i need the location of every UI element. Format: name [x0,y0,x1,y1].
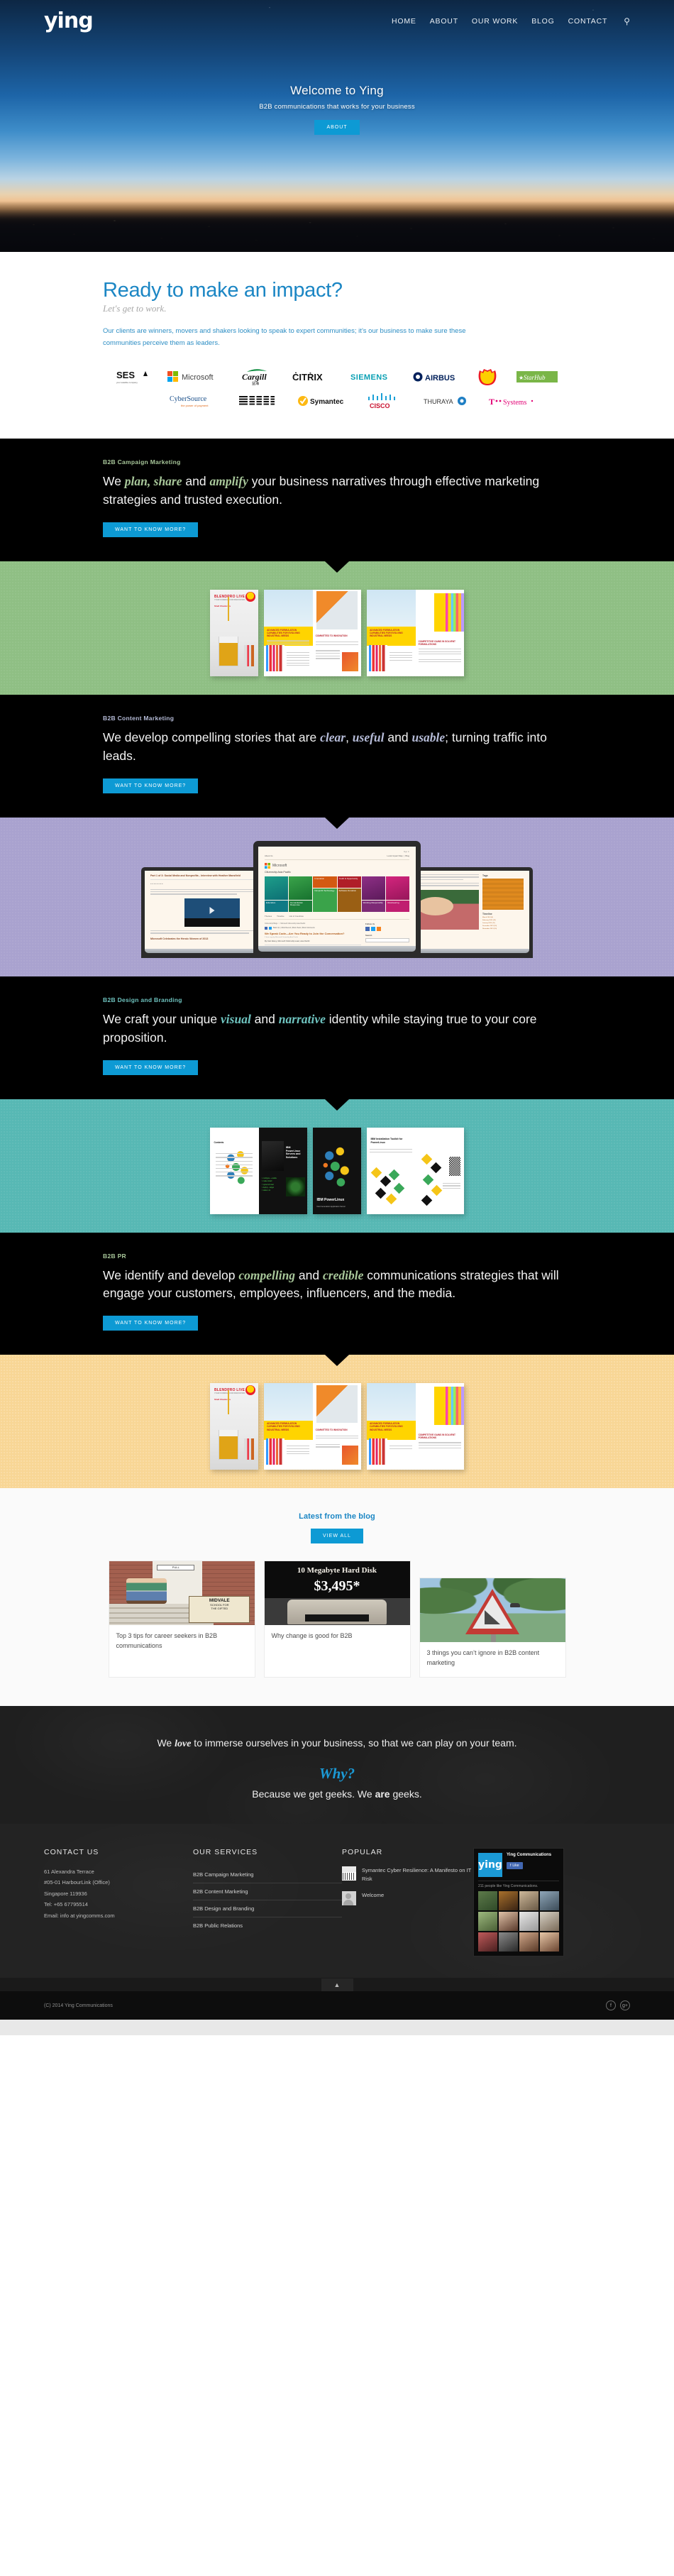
back-to-top-bar: ▲ [0,1978,674,1991]
service-block-design-branding: B2B Design and Branding We craft your un… [0,976,674,1099]
spread-headline-2: COMMITTED TO INNOVATION [316,634,358,637]
geeks-why-heading: Why? [0,1765,674,1783]
brochure-subtitle: Next Generation Application Server [316,1206,346,1208]
ad-headline: 10 Megabyte Hard Disk [265,1566,410,1575]
brochure-spread: ADVANCED FORMULATION CAPABILITIES FOR EV… [367,590,464,676]
address-line: Singapore 119936 [44,1888,193,1899]
service-headline: We identify and develop compelling and c… [103,1267,571,1304]
laptop-timeline-label: Timeline [482,913,524,915]
logo-airbus: AIRBUS [413,368,458,386]
headline-emphasis: visual [221,1012,251,1026]
laptop-center: Sign In About UsLocal Impact Map | Blog … [253,841,421,958]
tile-label: Education [266,902,275,904]
tile-label: Nonprofit Technology [314,890,334,892]
oil-pour-graphic [228,1390,229,1414]
page-root: ying HOME ABOUT OUR WORK BLOG CONTACT ⚲ … [0,0,674,2035]
brochure-page-right: IBM PowerLinux Servers and Solutions > c… [259,1128,308,1214]
logo-siemens: SIEMENS [350,368,394,386]
headline-emphasis: usable [411,730,445,744]
brochure-page-right: COMPETITIVE GAINS IN SOLVENT FORMULATION… [416,1383,465,1470]
hero-content: Welcome to Ying B2B communications that … [0,84,674,135]
email-line: Email: info at yingcomms.com [44,1910,193,1921]
facebook-icon[interactable]: f [606,2000,616,2010]
logo-ibm [239,392,276,410]
blog-thumbnail-midvale-cartoon: PULL MIDVALESCHOOL FORTHE GIFTED [109,1561,255,1625]
svg-text:Microsoft: Microsoft [182,373,214,382]
popular-item[interactable]: Symantec Cyber Resilience: A Manifesto o… [342,1866,473,1883]
metro-tile-grid: Innovation Youth & Opportunity Education… [265,876,409,912]
footer-column-facebook: ying Ying Communications f Like 211 peop… [473,1848,564,1956]
service-block-pr: B2B PR We identify and develop compellin… [0,1233,674,1355]
headline-part: , [346,730,353,744]
brochure-gallery-shell: BLENDPRO LIVE YOUR FORMULA FOR INNOVATIO… [0,581,674,676]
service-block-content-marketing: B2B Content Marketing We develop compell… [0,695,674,818]
facebook-friend-faces [478,1891,559,1952]
svg-text:your satellite company: your satellite company [116,381,138,384]
footer-contact-title: CONTACT US [44,1848,193,1856]
headline-part: and [385,730,412,744]
svg-text:益海: 益海 [252,381,259,386]
headline-emphasis: narrative [279,1012,326,1026]
svg-text:ĊITṘIX: ĊITṘIX [292,372,323,382]
headline-emphasis: plan, share [125,474,182,488]
brochure-cover: IBM PowerLinux Next Generation Applicati… [313,1128,361,1214]
brochure-title: IBM Installation Toolkit for PowerLinux [370,1138,411,1144]
geeks-line-2: Because we get geeks. We are geeks. [0,1788,674,1800]
svg-text:AIRBUS: AIRBUS [425,374,455,382]
site-logo[interactable]: ying [44,11,93,32]
brochure-gallery-shell-2: BLENDPRO LIVE YOUR FORMULA FOR INNOVATIO… [0,1375,674,1470]
nav-item-blog[interactable]: BLOG [531,17,554,26]
spread-headline-3: COMPETITIVE GAINS IN SOLVENT FORMULATION… [419,1433,460,1439]
headline-emphasis: clear [320,730,346,744]
facebook-page-name: Ying Communications [507,1853,551,1857]
footer-column-services: OUR SERVICES B2B Campaign Marketing B2B … [193,1848,342,1956]
hero-section: ying HOME ABOUT OUR WORK BLOG CONTACT ⚲ … [0,0,674,252]
blog-card-title: Top 3 tips for career seekers in B2B com… [109,1625,255,1660]
popular-item[interactable]: Welcome [342,1891,473,1905]
band-notch [325,561,349,573]
facebook-page-logo: ying [478,1853,502,1877]
page-tail [0,2020,674,2035]
laptop-tab[interactable]: List of Countries [289,915,304,918]
contents-label: Contents [214,1141,223,1144]
brochure-spread: ADVANCED FORMULATION CAPABILITIES FOR EV… [264,590,361,676]
test-tubes-graphic [244,1438,254,1460]
footer-service-link[interactable]: B2B Design and Branding [193,1900,342,1917]
blog-thumbnail-hard-disk-ad: 10 Megabyte Hard Disk $3,495* [265,1561,410,1625]
copyright-text: (C) 2014 Ying Communications [44,2003,113,2008]
service-kicker: B2B PR [103,1253,571,1260]
brochure-spread: Contents IBM PowerLinux Servers and S [210,1128,307,1214]
popular-item-title: Welcome [362,1891,384,1900]
headline-part: We [103,474,125,488]
person-avatar-thumbnail [342,1891,356,1905]
brochure-gallery-ibm: Contents IBM PowerLinux Servers and S [0,1119,674,1214]
brochure-page-left: Contents [210,1128,259,1214]
impact-body: Our clients are winners, movers and shak… [103,326,479,349]
laptop-article-headline: We Speak Code—Are You Ready to Join the … [265,932,361,935]
footer-popular-title: POPULAR [342,1848,473,1856]
tile-label: Youth & Opportunity [339,878,358,880]
laptop-follow-label: Follow Us [365,923,409,925]
headline-part: and [182,474,210,488]
svg-text:SES: SES [116,370,135,380]
laptop-subtitle: Citizenship Asia Pacific [265,871,409,874]
blog-card-list: PULL MIDVALESCHOOL FORTHE GIFTED Top 3 t… [0,1561,674,1678]
search-icon[interactable]: ⚲ [624,16,630,26]
image-band-green: BLENDPRO LIVE YOUR FORMULA FOR INNOVATIO… [0,561,674,695]
brochure-page-left: ADVANCED FORMULATION CAPABILITIES FOR EV… [264,590,313,676]
brochure-spread: ADVANCED FORMULATION CAPABILITIES FOR EV… [264,1383,361,1470]
geeks-emphasis: love [175,1739,191,1749]
footer-services-list: B2B Campaign Marketing B2B Content Marke… [193,1866,342,1934]
footer-service-link[interactable]: B2B Campaign Marketing [193,1866,342,1883]
geeks-text-part: We [157,1737,175,1749]
spread-headline: ADVANCED FORMULATION CAPABILITIES FOR EV… [370,629,411,637]
laptop-tab[interactable]: Themes [265,915,272,918]
blog-card-title: Why change is good for B2B [265,1625,410,1651]
brochure-page-left: ADVANCED FORMULATION CAPABILITIES FOR EV… [367,1383,416,1470]
spread-headline: ADVANCED FORMULATION CAPABILITIES FOR EV… [370,1422,411,1431]
laptop-tags-label: Tags [482,874,524,877]
midvale-sign: MIDVALESCHOOL FORTHE GIFTED [189,1596,250,1623]
tile-label: Software Donation [339,890,357,892]
facebook-like-button[interactable]: f Like [507,1862,523,1869]
blog-card[interactable]: 10 Megabyte Hard Disk $3,495* Why change… [264,1561,411,1678]
nav-item-our-work[interactable]: OUR WORK [472,17,518,26]
want-to-know-more-button[interactable]: WANT TO KNOW MORE? [103,1060,198,1075]
nav-item-about[interactable]: ABOUT [430,17,458,26]
brochure-title: IBM PowerLinux [316,1198,344,1202]
footer-address: 61 Alexandra Terrace #05-01 HarbourLink … [44,1866,193,1921]
beaker-graphic [219,637,238,666]
brochure-cover: BLENDPRO LIVE YOUR FORMULA FOR INNOVATIO… [210,590,258,676]
chevron-up-icon[interactable]: ▲ [321,1978,353,1991]
want-to-know-more-button[interactable]: WANT TO KNOW MORE? [103,1316,198,1331]
svg-text:SIEMENS: SIEMENS [350,373,387,382]
headline-emphasis: useful [353,730,385,744]
ad-price: $3,495* [265,1578,410,1595]
svg-text:CISCO: CISCO [370,402,390,409]
view-all-button[interactable]: VIEW ALL [311,1529,363,1543]
social-links: f g+ [606,2000,630,2010]
footer-service-link[interactable]: B2B Content Marketing [193,1883,342,1900]
svg-text:Systems: Systems [503,399,526,407]
tile-label: Working Responsibly [363,902,383,904]
logo-cisco: CISCO [365,392,402,410]
hero-foreground-ridge [0,201,674,252]
want-to-know-more-button[interactable]: WANT TO KNOW MORE? [103,778,198,793]
service-kicker: B2B Design and Branding [103,996,571,1003]
service-block-campaign-marketing: B2B Campaign Marketing We plan, share an… [0,439,674,561]
want-to-know-more-button[interactable]: WANT TO KNOW MORE? [103,522,198,537]
logo-shell [477,368,498,386]
svg-text:Symantec.: Symantec. [310,398,344,406]
nav-item-contact[interactable]: CONTACT [568,17,608,26]
logo-tsystems: T Systems [489,392,534,410]
phone-line: Tel: +65 67795514 [44,1899,193,1910]
facebook-icon: f [510,1864,511,1868]
laptop-tab[interactable]: Timeline [277,915,284,918]
headline-emphasis: compelling [238,1268,295,1282]
hero-about-button[interactable]: ABOUT [314,120,359,135]
band-notch [325,1355,349,1366]
headline-part: and [295,1268,323,1282]
shell-pecten-icon [245,592,255,602]
footer-services-title: OUR SERVICES [193,1848,342,1856]
service-headline: We develop compelling stories that are c… [103,729,571,766]
client-logo-row-2: CyberSource the power of payment [0,392,674,410]
svg-text:T: T [489,397,495,407]
geeks-text-part: geeks. [390,1788,422,1800]
footer-service-link[interactable]: B2B Public Relations [193,1917,342,1934]
headline-emphasis: amplify [209,474,248,488]
footer-column-popular: POPULAR Symantec Cyber Resilience: A Man… [342,1848,473,1956]
beaker-graphic [219,1430,238,1460]
client-logo-row-1: SES your satellite company Microsoft Car [0,368,674,386]
laptop-gallery: Part 1 of 3: Social Media and Nonprofits… [0,837,674,958]
service-kicker: B2B Content Marketing [103,715,571,722]
spread-headline: ADVANCED FORMULATION CAPABILITIES FOR EV… [267,1422,309,1431]
service-kicker: B2B Campaign Marketing [103,458,571,466]
svg-text:THURAYA: THURAYA [424,398,453,405]
blog-section: Latest from the blog VIEW ALL PULL MIDVA… [0,1488,674,1706]
blog-card[interactable]: PULL MIDVALESCHOOL FORTHE GIFTED Top 3 t… [109,1561,255,1678]
spread-headline: ADVANCED FORMULATION CAPABILITIES FOR EV… [267,629,309,637]
blog-card[interactable]: 3 things you can’t ignore in B2B content… [419,1578,566,1678]
brochure-spread: ADVANCED FORMULATION CAPABILITIES FOR EV… [367,1383,464,1470]
geeks-strong: are [375,1788,390,1800]
facebook-like-count: 211 people like Ying Communications. [478,1881,559,1888]
tile-label: Humanitarian Response [290,902,312,907]
svg-text:CyberSource: CyberSource [170,395,207,403]
headline-part: and [251,1012,279,1026]
brochure-page-left: IBM Installation Toolkit for PowerLinux [367,1128,416,1214]
geeks-text-part: Because we get geeks. We [252,1788,375,1800]
image-band-teal: Contents IBM PowerLinux Servers and S [0,1099,674,1233]
oil-pour-graphic [228,597,229,621]
tile-label: Volunteering [387,902,399,904]
brochure-page-left: ADVANCED FORMULATION CAPABILITIES FOR EV… [367,590,416,676]
impact-section: Ready to make an impact? Let's get to wo… [0,252,674,349]
svg-text:StarHub: StarHub [524,374,546,381]
brochure-page-right [416,1128,465,1214]
headline-part: We craft your unique [103,1012,221,1026]
geeks-section: We love to immerse ourselves in your bus… [0,1706,674,1824]
blog-heading: Latest from the blog [0,1512,674,1521]
brochure-cover: BLENDPRO LIVE YOUR FORMULA FOR INNOVATIO… [210,1383,258,1470]
headline-part: We develop compelling stories that are [103,730,320,744]
band-notch [325,818,349,829]
laptop-search-label: Search [365,934,409,937]
service-headline: We craft your unique visual and narrativ… [103,1011,571,1047]
brochure-page-left: ADVANCED FORMULATION CAPABILITIES FOR EV… [264,1383,313,1470]
logo-starhub: StarHub ★ [516,368,558,386]
service-headline: We plan, share and amplify your business… [103,473,571,510]
hero-subtitle: B2B communications that works for your b… [0,103,674,111]
pull-sign-label: PULL [157,1565,194,1570]
band-notch [325,1099,349,1111]
brochure-page-right: COMMITTED TO INNOVATION [313,1383,362,1470]
geeks-line-1: We love to immerse ourselves in your bus… [0,1736,674,1752]
laptop-brand: Microsoft [272,864,287,868]
logo-thuraya: THURAYA [424,392,468,410]
footer-column-contact: CONTACT US 61 Alexandra Terrace #05-01 H… [44,1848,193,1956]
brochure-cover-subtitle: YOUR FORMULA FOR INNOVATION [214,599,245,601]
logo-citrix: ĊITṘIX [292,368,332,386]
impact-subheading: Let's get to work. [103,303,571,314]
logo-cargill: Cargill 益海 [241,368,274,386]
spread-headline-2: COMMITTED TO INNOVATION [316,1429,358,1431]
blog-thumbnail-road-sign [420,1578,565,1642]
site-footer: CONTACT US 61 Alexandra Terrace #05-01 H… [0,1824,674,1978]
headline-part: We identify and develop [103,1268,238,1282]
brochure-page-right: COMPETITIVE GAINS IN SOLVENT FORMULATION… [416,590,465,676]
logo-microsoft: Microsoft [167,368,223,386]
google-plus-icon[interactable]: g+ [620,2000,630,2010]
headline-emphasis: credible [323,1268,363,1282]
svg-text:★: ★ [519,375,524,381]
city-skyline-thumbnail [342,1866,356,1881]
impact-heading: Ready to make an impact? [103,279,571,302]
test-tubes-graphic [244,645,254,666]
spread-headline-3: COMPETITIVE GAINS IN SOLVENT FORMULATION… [419,640,460,646]
laptop-translate-label: Translate This Page [365,945,409,946]
brochure-title: IBM PowerLinux Servers and Solutions [286,1146,305,1159]
logo-symantec: Symantec. [297,392,344,410]
client-logos-section: SES your satellite company Microsoft Car [0,349,674,439]
image-band-purple: Part 1 of 3: Social Media and Nonprofits… [0,818,674,976]
svg-text:the power of payment: the power of payment [181,404,209,407]
logo-cybersource: CyberSource the power of payment [170,392,218,410]
image-band-sand: BLENDPRO LIVE YOUR FORMULA FOR INNOVATIO… [0,1355,674,1488]
address-line: 61 Alexandra Terrace [44,1866,193,1877]
hero-title: Welcome to Ying [0,84,674,98]
blog-card-title: 3 things you can’t ignore in B2B content… [420,1642,565,1677]
svg-text:Cargill: Cargill [242,372,267,382]
like-label: Like [512,1864,519,1868]
geeks-text-part: to immerse ourselves in your business, s… [191,1737,516,1749]
shell-pecten-icon [245,1385,255,1395]
popular-item-title: Symantec Cyber Resilience: A Manifesto o… [362,1866,473,1883]
tile-label: Innovation [314,878,324,880]
main-nav: HOME ABOUT OUR WORK BLOG CONTACT ⚲ [392,16,630,26]
bottom-bar: (C) 2014 Ying Communications f g+ [0,1991,674,2020]
nav-item-home[interactable]: HOME [392,17,416,26]
brochure-spread: IBM Installation Toolkit for PowerLinux [367,1128,464,1214]
brochure-page-right: COMMITTED TO INNOVATION [313,590,362,676]
brochure-cover-subtitle: YOUR FORMULA FOR INNOVATION [214,1392,245,1394]
facebook-page-widget: ying Ying Communications f Like 211 peop… [473,1848,564,1956]
logo-ses: SES your satellite company [116,368,149,386]
address-line: #05-01 HarbourLink (Office) [44,1877,193,1888]
top-navigation-bar: ying HOME ABOUT OUR WORK BLOG CONTACT ⚲ [0,0,674,43]
